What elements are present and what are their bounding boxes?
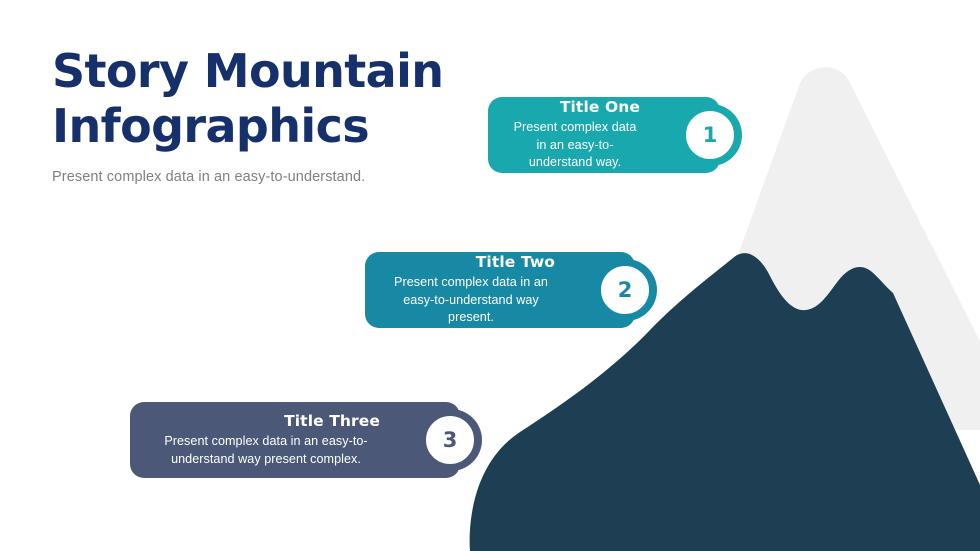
step-card-one[interactable]: 1 Title One Present complex data in an e… xyxy=(488,97,720,173)
step-number-two: 2 xyxy=(618,280,633,301)
snow-cap-shape xyxy=(700,67,980,430)
step-number-one: 1 xyxy=(703,125,718,146)
step-number-three: 3 xyxy=(443,430,458,451)
step-title-one: Title One xyxy=(510,98,640,116)
step-title-two: Title Two xyxy=(387,253,555,271)
heading-block: Story Mountain Infographics Present comp… xyxy=(52,44,472,188)
slide-canvas: Story Mountain Infographics Present comp… xyxy=(0,0,980,551)
step-badge-three[interactable]: 3 xyxy=(426,416,474,464)
step-title-three: Title Three xyxy=(152,412,380,430)
page-subtitle: Present complex data in an easy-to-under… xyxy=(52,167,472,187)
page-title: Story Mountain Infographics xyxy=(52,44,472,153)
step-body-one: Present complex data in an easy-to-under… xyxy=(510,119,640,171)
step-body-three: Present complex data in an easy-to-under… xyxy=(152,433,380,468)
step-badge-two[interactable]: 2 xyxy=(601,266,649,314)
step-card-two[interactable]: 2 Title Two Present complex data in an e… xyxy=(365,252,635,328)
step-body-two: Present complex data in an easy-to-under… xyxy=(387,274,555,326)
step-card-three[interactable]: 3 Title Three Present complex data in an… xyxy=(130,402,460,478)
step-badge-one[interactable]: 1 xyxy=(686,111,734,159)
